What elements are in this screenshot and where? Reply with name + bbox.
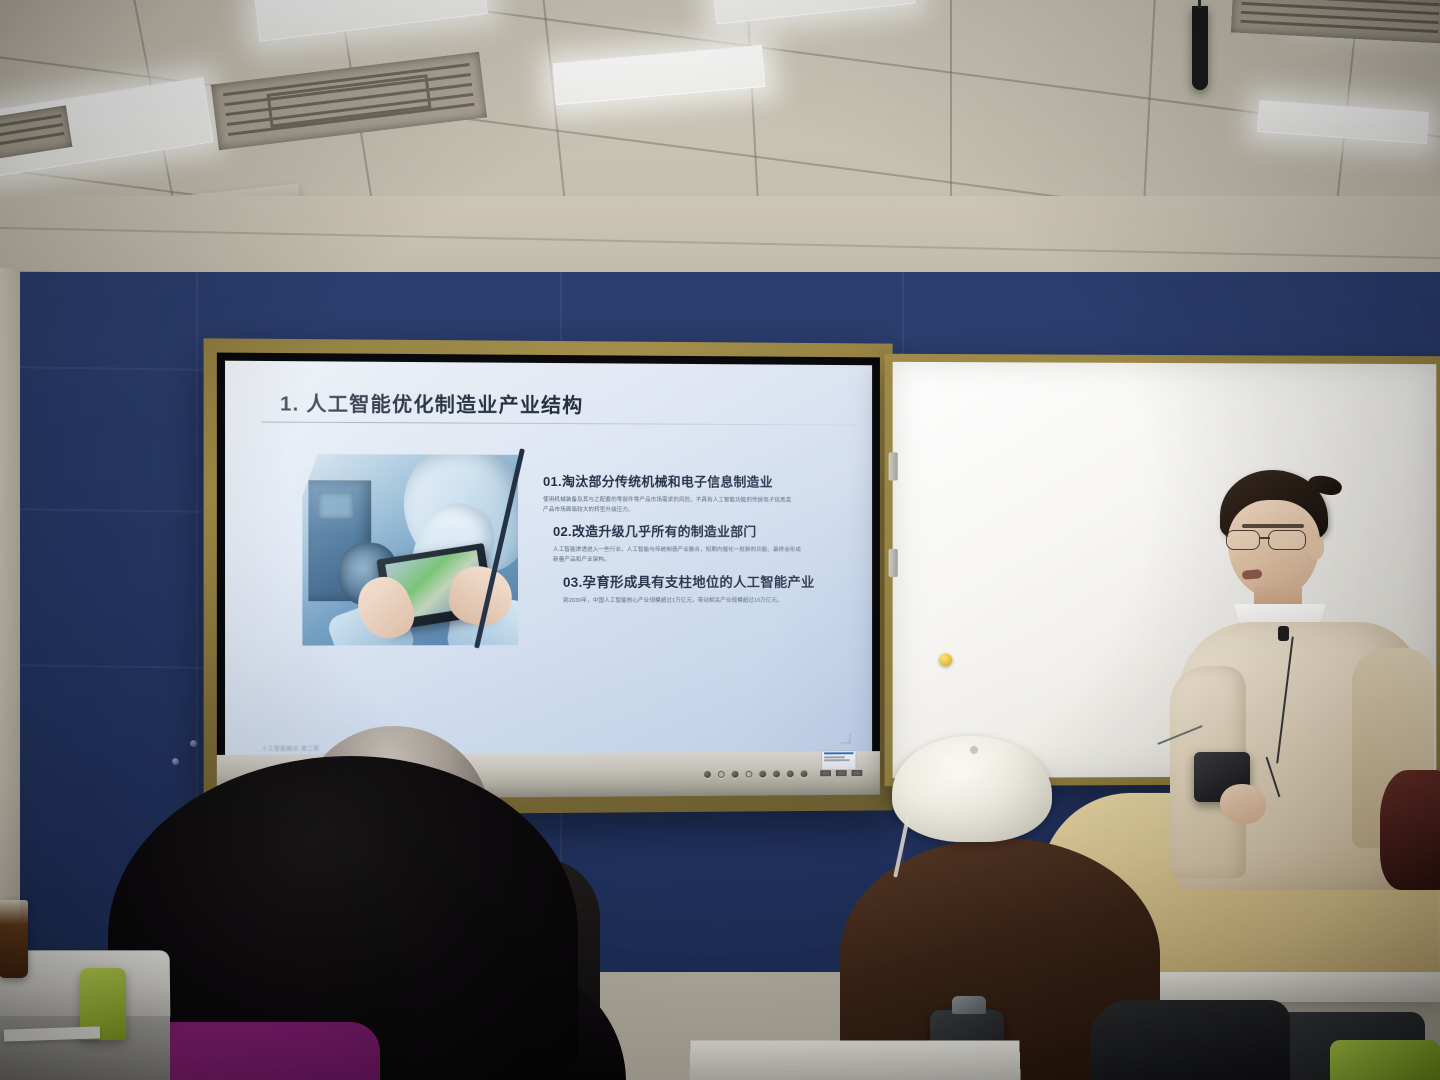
- drink-cup: [0, 900, 28, 978]
- interactive-flat-panel-display[interactable]: 1. 人工智能优化制造业产业结构 01.淘汰部分传统机械和电子信息制造业: [204, 338, 893, 815]
- freeze-button[interactable]: [801, 770, 808, 777]
- display-screen-housing: 1. 人工智能优化制造业产业结构 01.淘汰部分传统机械和电子信息制造业: [217, 353, 880, 800]
- slide-item-02: 02.改造升级几乎所有的制造业部门 人工智能渗透进入一些行业，人工智能与传统制造…: [553, 521, 803, 566]
- menu-button[interactable]: [732, 770, 739, 777]
- power-button[interactable]: [704, 770, 711, 777]
- hanging-microphone: [1192, 6, 1208, 90]
- eyeglasses-icon: [1224, 530, 1320, 552]
- slide-title: 1. 人工智能优化制造业产业结构: [280, 387, 583, 418]
- slide-item-03-heading: 03.孕育形成具有支柱地位的人工智能产业: [563, 571, 815, 591]
- title-underline: [262, 422, 861, 426]
- bezel-button-row[interactable]: [704, 770, 807, 778]
- presenter-hand: [1220, 784, 1266, 824]
- wall-screw: [172, 758, 179, 765]
- whiteboard-hinge: [889, 549, 898, 577]
- slide-item-01-heading: 01.淘汰部分传统机械和电子信息制造业: [543, 471, 793, 491]
- usb-port[interactable]: [820, 770, 831, 776]
- volume-up-button[interactable]: [759, 770, 766, 777]
- slide-item-01: 01.淘汰部分传统机械和电子信息制造业 使用机械装备及其与之配套的零部件等产品市…: [543, 471, 793, 516]
- presentation-slide: 1. 人工智能优化制造业产业结构 01.淘汰部分传统机械和电子信息制造业: [225, 361, 872, 769]
- audience-person-right: [1090, 1000, 1290, 1080]
- wall-screw: [190, 740, 197, 747]
- usb-port[interactable]: [836, 770, 847, 776]
- back-button[interactable]: [787, 770, 794, 777]
- chair: [1330, 1040, 1440, 1080]
- yellow-magnet-icon[interactable]: [939, 653, 952, 666]
- desk-right: [689, 1040, 1020, 1080]
- slide-item-01-body: 使用机械装备及其与之配套的零部件等产品市场需求的风险，不具有人工智能功能的传统电…: [543, 495, 793, 516]
- home-button[interactable]: [773, 770, 780, 777]
- volume-down-button[interactable]: [745, 770, 752, 777]
- lapel-microphone-icon: [1278, 626, 1289, 641]
- slide-item-03-body: 到2030年，中国人工智能核心产业规模超过1万亿元，带动相关产业规模超过10万亿…: [563, 596, 812, 606]
- slide-item-02-body: 人工智能渗透进入一些行业，人工智能与传统制造产业融合，短期内催化一批新的功能、最…: [553, 545, 803, 566]
- slide-item-02-heading: 02.改造升级几乎所有的制造业部门: [553, 521, 803, 540]
- slide-footer: 人工智能概论 第二章: [262, 744, 320, 752]
- audience-person-far-right: [1380, 770, 1440, 890]
- bezel-port-row[interactable]: [820, 770, 862, 776]
- hdmi-port[interactable]: [852, 770, 863, 776]
- classroom-photo-scene: 1. 人工智能优化制造业产业结构 01.淘汰部分传统机械和电子信息制造业: [0, 0, 1440, 1080]
- source-button[interactable]: [718, 770, 725, 777]
- whiteboard-hinge: [889, 452, 898, 480]
- presenter-brow: [1242, 524, 1304, 528]
- slide-corner-mark: [841, 733, 851, 743]
- wall-left-edge: [0, 268, 20, 968]
- device-spec-sticker: [821, 750, 856, 770]
- slide-item-03: 03.孕育形成具有支柱地位的人工智能产业 到2030年，中国人工智能核心产业规模…: [563, 571, 815, 606]
